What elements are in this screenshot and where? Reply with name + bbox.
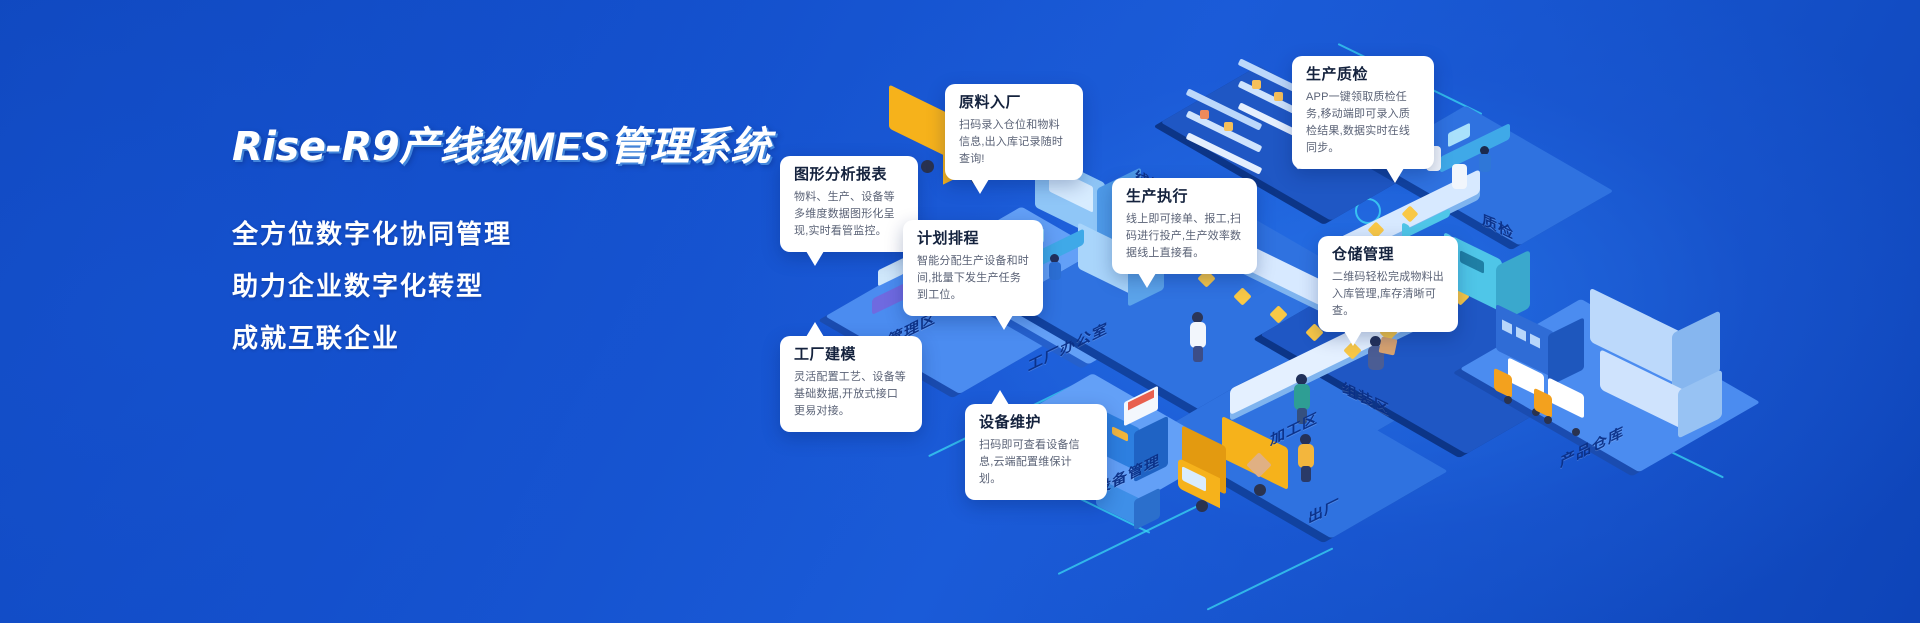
callout-card-equipment-maintenance[interactable]: 设备维护 扫码即可查看设备信息,云端配置维保计划。 — [965, 404, 1107, 500]
callout-body: 线上即可接单、报工,扫码进行投产,生产效率数据线上直接看。 — [1126, 211, 1243, 262]
callout-tail — [806, 251, 824, 266]
callout-card-factory-modeling[interactable]: 工厂建模 灵活配置工艺、设备等基础数据,开放式接口更易对接。 — [780, 336, 922, 432]
hero-subtitle-2: 助力企业数字化转型 — [232, 273, 852, 299]
callout-tail — [1386, 168, 1404, 183]
cargo-box — [1252, 80, 1261, 89]
callout-card-quality-inspection[interactable]: 生产质检 APP一键领取质检任务,移动端即可录入质检结果,数据实时在线同步。 — [1292, 56, 1434, 169]
callout-title: 计划排程 — [917, 231, 1029, 248]
callout-body: 物料、生产、设备等多维度数据图形化呈现,实时看管监控。 — [794, 189, 904, 240]
truck-wheel — [1254, 484, 1266, 496]
callout-tail — [995, 315, 1013, 330]
callout-tail — [806, 322, 824, 337]
callout-card-graph-report[interactable]: 图形分析报表 物料、生产、设备等多维度数据图形化呈现,实时看管监控。 — [780, 156, 918, 252]
callout-title: 设备维护 — [979, 415, 1093, 432]
callout-title: 原料入厂 — [959, 95, 1069, 112]
callout-body: 扫码即可查看设备信息,云端配置维保计划。 — [979, 437, 1093, 488]
callout-body: 扫码录入仓位和物料信息,出入库记录随时查询! — [959, 117, 1069, 168]
cargo-box — [1200, 110, 1209, 119]
callout-title: 生产质检 — [1306, 67, 1420, 84]
callout-card-plan-scheduling[interactable]: 计划排程 智能分配生产设备和时间,批量下发生产任务到工位。 — [903, 220, 1043, 316]
callout-title: 仓储管理 — [1332, 247, 1444, 264]
truck-wheel — [921, 160, 934, 173]
callout-tail — [1344, 331, 1362, 346]
cargo-box — [1274, 92, 1283, 101]
hero-subtitle-1: 全方位数字化协同管理 — [232, 221, 852, 247]
hero-copy: Rise-R9产线级MES管理系统 全方位数字化协同管理 助力企业数字化转型 成… — [232, 124, 852, 377]
mes-hero-banner: Rise-R9产线级MES管理系统 全方位数字化协同管理 助力企业数字化转型 成… — [0, 0, 1920, 623]
callout-card-production-execution[interactable]: 生产执行 线上即可接单、报工,扫码进行投产,生产效率数据线上直接看。 — [1112, 178, 1257, 274]
callout-body: 灵活配置工艺、设备等基础数据,开放式接口更易对接。 — [794, 369, 908, 420]
callout-title: 图形分析报表 — [794, 167, 904, 184]
callout-tail — [991, 390, 1009, 405]
hero-subtitle-3: 成就互联企业 — [232, 325, 852, 351]
neon-line — [1207, 547, 1334, 610]
callout-body: 智能分配生产设备和时间,批量下发生产任务到工位。 — [917, 253, 1029, 304]
callout-title: 生产执行 — [1126, 189, 1243, 206]
callout-card-warehouse-management[interactable]: 仓储管理 二维码轻松完成物料出入库管理,库存清晰可查。 — [1318, 236, 1458, 332]
page-title: Rise-R9产线级MES管理系统 — [232, 124, 852, 171]
callout-tail — [971, 179, 989, 194]
callout-title: 工厂建模 — [794, 347, 908, 364]
callout-body: 二维码轻松完成物料出入库管理,库存清晰可查。 — [1332, 269, 1444, 320]
truck-wheel — [1572, 428, 1580, 436]
brand-name: Rise-R9 — [232, 124, 399, 170]
callout-body: APP一键领取质检任务,移动端即可录入质检结果,数据实时在线同步。 — [1306, 89, 1420, 157]
truck-wheel — [1544, 416, 1552, 424]
truck-wheel — [1504, 396, 1512, 404]
callout-tail — [1138, 273, 1156, 288]
truck-wheel — [1196, 500, 1208, 512]
hero-subtitle-list: 全方位数字化协同管理 助力企业数字化转型 成就互联企业 — [232, 221, 852, 351]
callout-card-raw-material-in[interactable]: 原料入厂 扫码录入仓位和物料信息,出入库记录随时查询! — [945, 84, 1083, 180]
page-title-cn: 产线级MES管理系统 — [399, 125, 771, 169]
cargo-box — [1224, 122, 1233, 131]
